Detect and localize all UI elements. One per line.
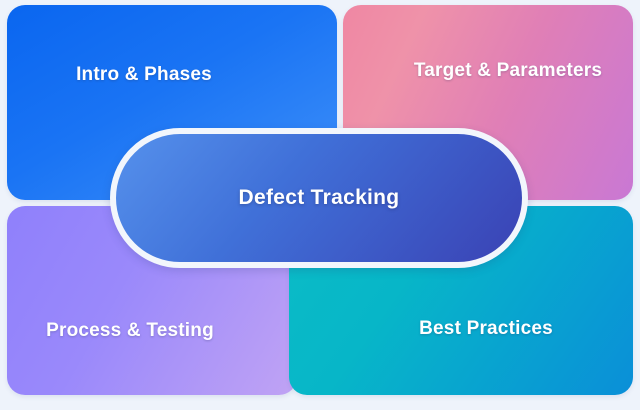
quadrant-label-best-practices: Best Practices [419, 318, 553, 340]
quadrant-label-intro-phases: Intro & Phases [76, 64, 212, 86]
center-node-defect-tracking[interactable]: Defect Tracking [110, 128, 528, 268]
quadrant-hub-diagram: Intro & Phases Target & Parameters Proce… [0, 0, 640, 410]
center-node-label: Defect Tracking [239, 186, 400, 210]
quadrant-label-target-parameters: Target & Parameters [414, 60, 602, 82]
quadrant-label-process-testing: Process & Testing [46, 320, 214, 342]
